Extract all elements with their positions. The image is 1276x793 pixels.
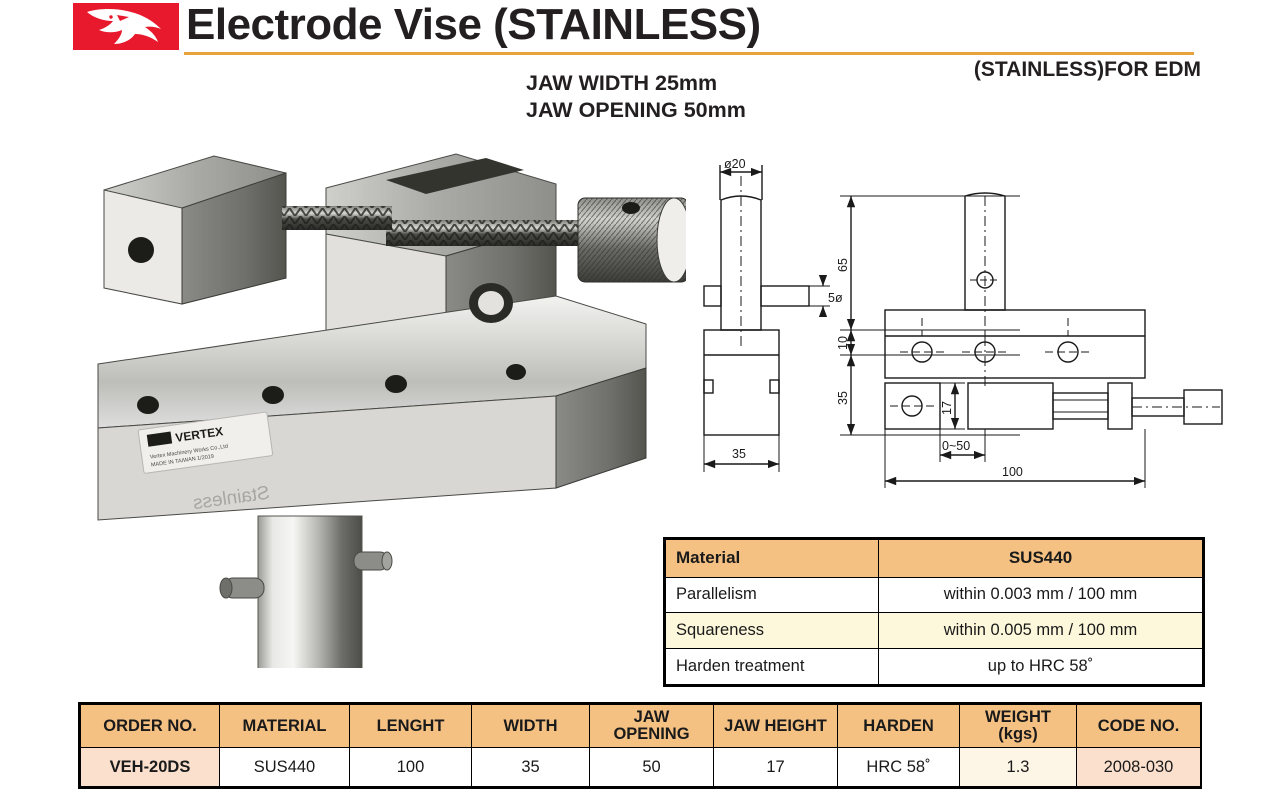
cell-code-no: 2008-030 [1077, 748, 1201, 787]
dim-height-base: 35 [836, 391, 850, 405]
dim-pin: 5ø [828, 291, 843, 305]
order-table: ORDER NO. MATERIAL LENGHT WIDTH JAW OPEN… [78, 702, 1202, 789]
cell-material: SUS440 [220, 748, 350, 787]
dim-length: 100 [1002, 465, 1023, 479]
cell-jaw-height: 17 [714, 748, 838, 787]
edm-subtitle: (STAINLESS)FOR EDM [974, 58, 1201, 82]
spec-value: within 0.003 mm / 100 mm [879, 577, 1203, 613]
dim-base-width: 35 [732, 447, 746, 461]
cell-length: 100 [350, 748, 472, 787]
table-row: Squareness within 0.005 mm / 100 mm [666, 613, 1203, 649]
product-photo: VERTEX Vertex Machinery Works Co.,Ltd MA… [86, 128, 686, 668]
spec-value: SUS440 [879, 540, 1203, 578]
title-underline-rule [184, 52, 1194, 55]
page-title: Electrode Vise (STAINLESS) [186, 0, 761, 52]
table-header-row: ORDER NO. MATERIAL LENGHT WIDTH JAW OPEN… [81, 705, 1201, 748]
jaw-spec-block: JAW WIDTH 25mm JAW OPENING 50mm [526, 70, 746, 124]
col-length: LENGHT [350, 705, 472, 748]
cell-order-no: VEH-20DS [81, 748, 220, 787]
spec-value: within 0.005 mm / 100 mm [879, 613, 1203, 649]
col-weight: WEIGHT (kgs) [960, 705, 1077, 748]
dim-diameter-top: ø20 [724, 157, 746, 171]
technical-drawings: ø20 5ø 35 65 10 35 [690, 140, 1230, 500]
cell-width: 35 [472, 748, 590, 787]
spec-key: Parallelism [666, 577, 879, 613]
table-row: Parallelism within 0.003 mm / 100 mm [666, 577, 1203, 613]
cell-weight: 1.3 [960, 748, 1077, 787]
col-material: MATERIAL [220, 705, 350, 748]
page-header: Electrode Vise (STAINLESS) [0, 0, 1276, 60]
specification-table: Material SUS440 Parallelism within 0.003… [663, 537, 1205, 687]
dim-jaw-height: 17 [940, 401, 954, 415]
col-width: WIDTH [472, 705, 590, 748]
col-harden: HARDEN [838, 705, 960, 748]
jaw-opening-label: JAW OPENING 50mm [526, 97, 746, 124]
col-order-no: ORDER NO. [81, 705, 220, 748]
cell-harden: HRC 58˚ [838, 748, 960, 787]
table-row: Material SUS440 [666, 540, 1203, 578]
cell-jaw-opening: 50 [590, 748, 714, 787]
spec-key: Squareness [666, 613, 879, 649]
spec-key: Harden treatment [666, 649, 879, 685]
col-code-no: CODE NO. [1077, 705, 1201, 748]
dim-height-total: 65 [836, 258, 850, 272]
spec-key: Material [666, 540, 879, 578]
spec-value: up to HRC 58˚ [879, 649, 1203, 685]
table-row: Harden treatment up to HRC 58˚ [666, 649, 1203, 685]
col-jaw-height: JAW HEIGHT [714, 705, 838, 748]
eagle-head-logo [73, 3, 179, 50]
col-jaw-opening: JAW OPENING [590, 705, 714, 748]
dim-jaw-opening: 0~50 [942, 439, 970, 453]
table-row: VEH-20DS SUS440 100 35 50 17 HRC 58˚ 1.3… [81, 748, 1201, 787]
jaw-width-label: JAW WIDTH 25mm [526, 70, 746, 97]
dim-height-mid: 10 [836, 336, 850, 350]
